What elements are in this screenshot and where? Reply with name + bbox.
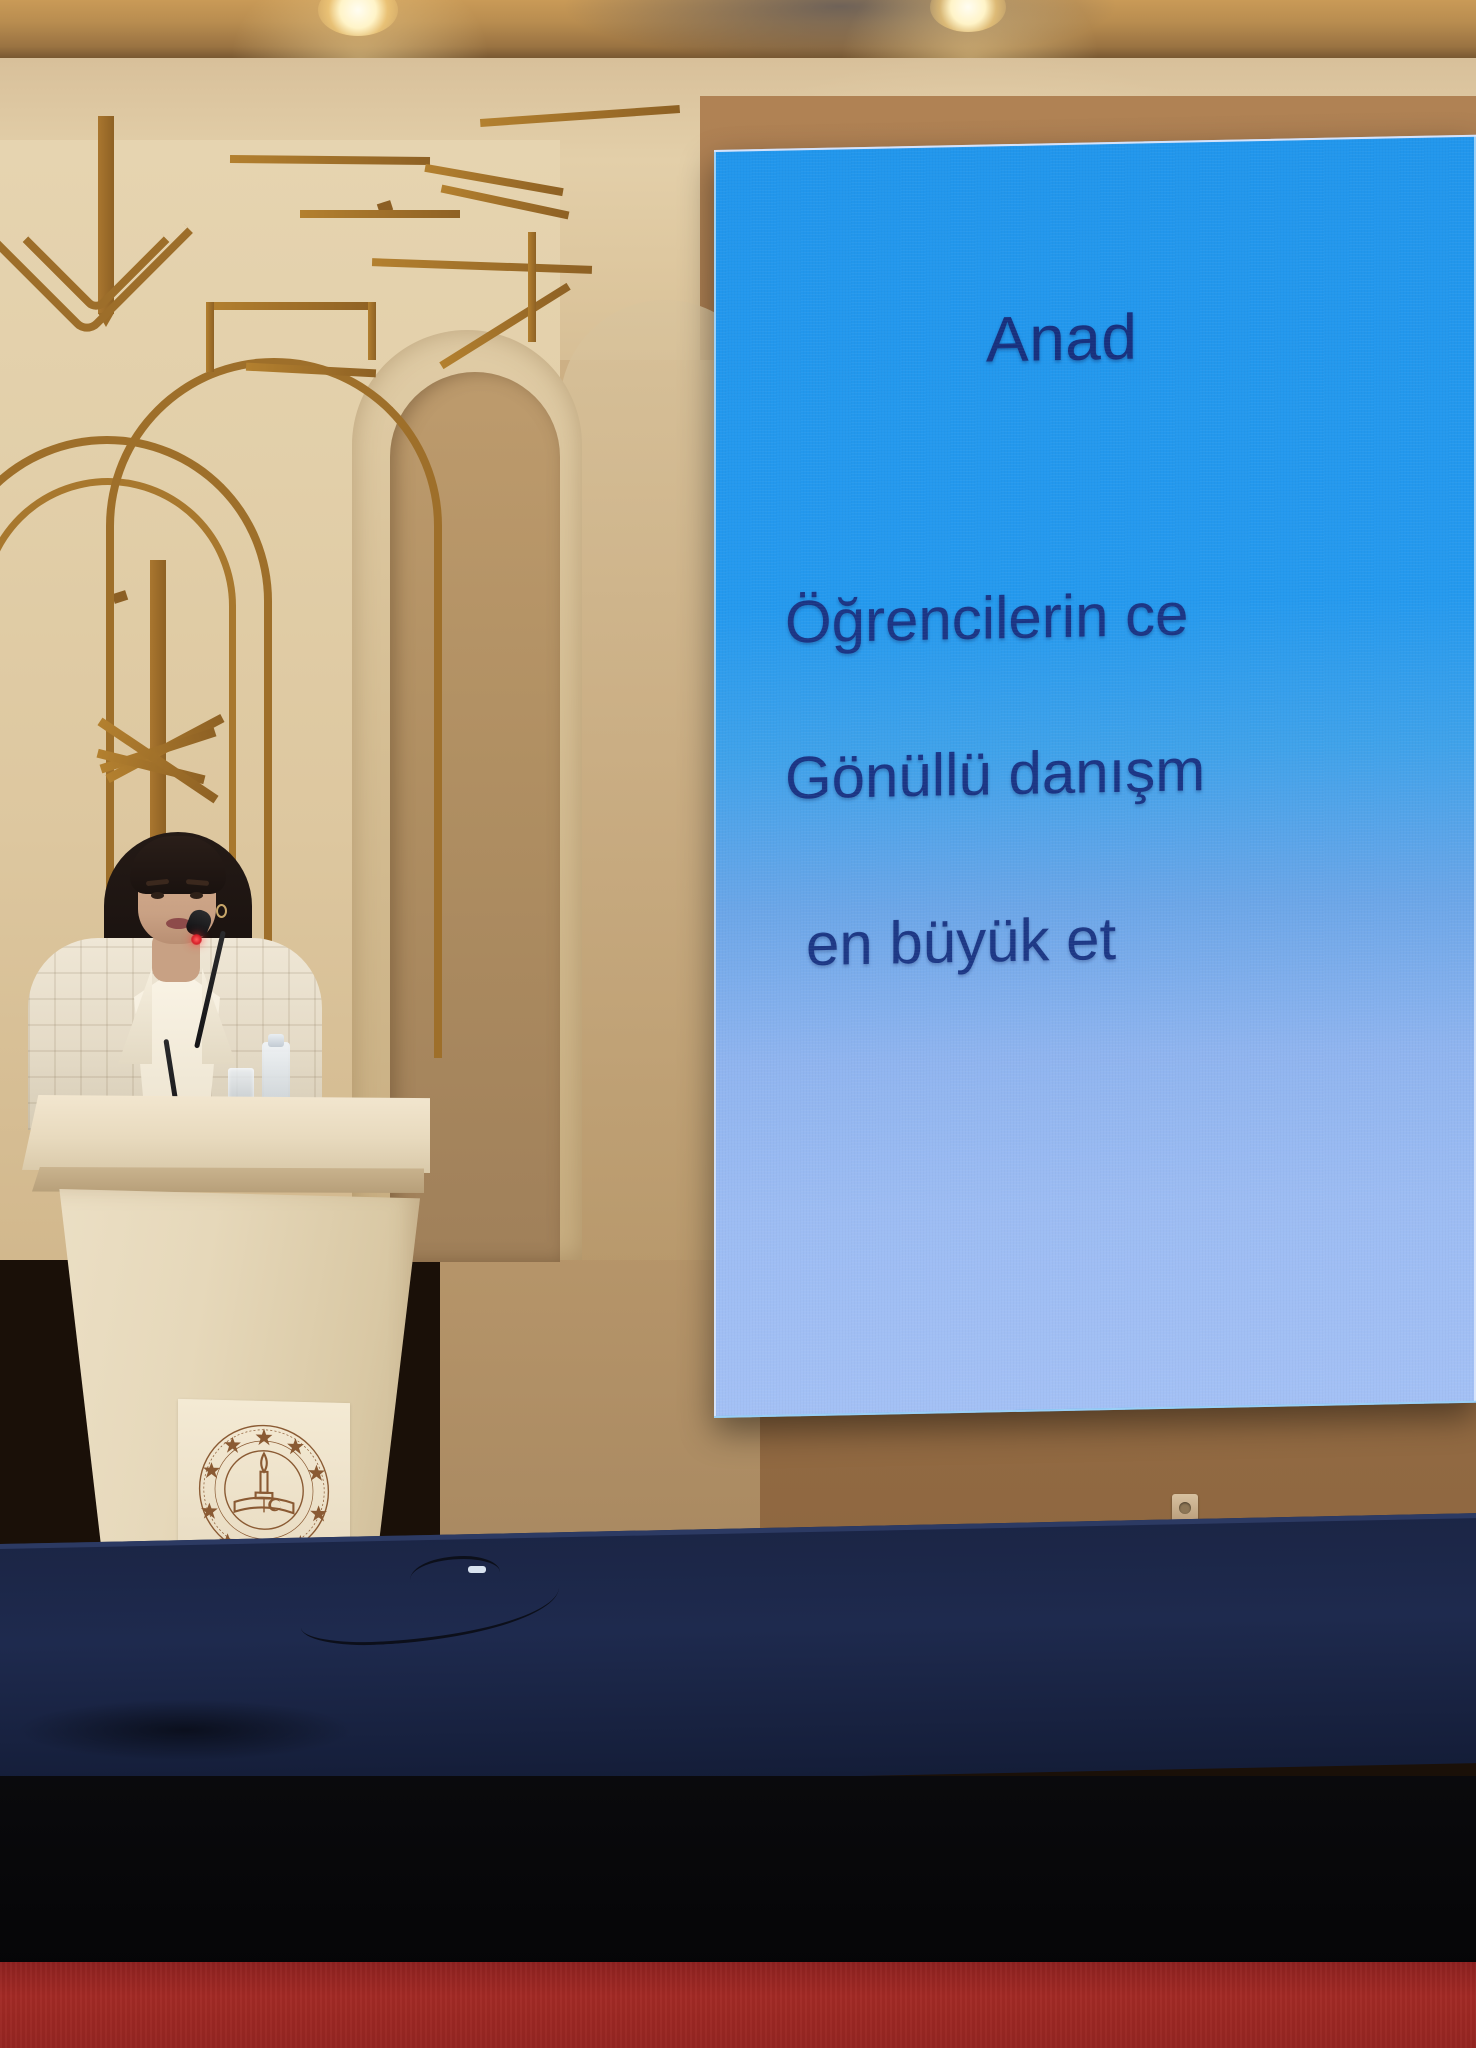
gold-inlay-line-top3 <box>300 210 460 218</box>
presenter-eye-left <box>151 892 164 899</box>
carpet-texture <box>0 1962 1476 2048</box>
projection-screen: Anad Öğrencilerin ce Gönüllü danışm en b… <box>714 135 1476 1418</box>
gold-inlay-step-a <box>206 302 376 310</box>
lectern-top-surface <box>22 1095 430 1173</box>
projection-screen-surface: Anad Öğrencilerin ce Gönüllü danışm en b… <box>714 135 1476 1418</box>
lectern-shadow <box>20 1700 350 1760</box>
conference-hall-photo: Anad Öğrencilerin ce Gönüllü danışm en b… <box>0 0 1476 2048</box>
presenter-eye-right <box>190 892 203 899</box>
gold-inlay-step-b <box>206 302 214 372</box>
slide-bullet-1-text: Öğrencilerin ce <box>785 582 1189 653</box>
slide-bullet-2: Gönüllü danışm <box>714 738 1205 811</box>
stage-front-panel <box>0 1776 1476 1971</box>
slide-bullet-2-text: Gönüllü danışm <box>785 738 1205 809</box>
microphone-status-led <box>191 934 202 945</box>
presentation-slide: Anad Öğrencilerin ce Gönüllü danışm en b… <box>716 137 1474 1416</box>
ceiling-shadow <box>560 0 1120 62</box>
lectern-lip <box>32 1167 424 1193</box>
slide-title: Anad <box>986 299 1137 376</box>
slide-continuation-line: en büyük et <box>806 904 1116 979</box>
gold-inlay-right-vert <box>528 232 536 342</box>
presenter-earring <box>216 904 227 918</box>
water-bottle-cap <box>268 1034 284 1047</box>
water-bottle <box>262 1042 290 1102</box>
slide-bullet-1: Öğrencilerin ce <box>714 582 1189 655</box>
cable-connector <box>468 1566 486 1573</box>
gold-inlay-step-c <box>368 302 376 360</box>
floor-carpet <box>0 1962 1476 2048</box>
